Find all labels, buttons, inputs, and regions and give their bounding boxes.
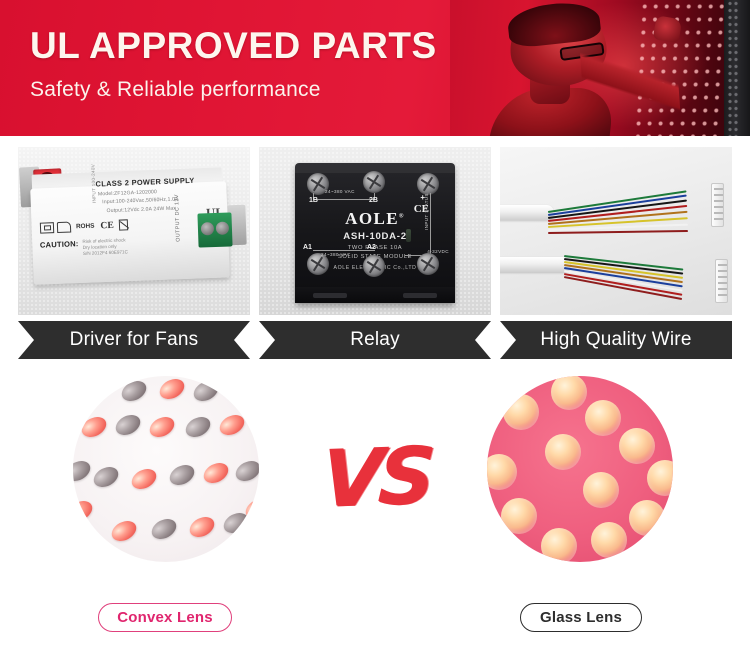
led-dome [551,376,587,410]
led-dome [619,428,655,464]
led-oval [156,376,187,403]
wire-connector-upper [711,183,724,227]
led-dome [545,434,581,470]
led-oval [146,413,177,441]
product-label-relay-text: Relay [350,329,400,351]
product-image-row: CLASS 2 POWER SUPPLY Model:ZF12GA-120200… [0,147,750,315]
header-banner: UL APPROVED PARTS Safety & Reliable perf… [0,0,750,136]
led-oval [186,513,217,541]
relay-bracket-bottom [313,250,375,251]
product-label-wire-text: High Quality Wire [540,329,691,351]
lens-comparison-section: VS [0,370,750,595]
wire-sheath-upper [500,205,554,220]
product-label-driver[interactable]: Driver for Fans [18,321,250,359]
led-oval [148,515,179,543]
led-dome [647,460,673,496]
relay-mount-slot-right [403,293,437,298]
product-label-driver-text: Driver for Fans [70,329,199,351]
relay-housing: 24~380 VAC 1B 2B AOLE® ASH-10DA-2 TWO PH… [295,163,455,303]
led-oval [78,413,109,441]
led-oval [73,533,98,561]
wire-connector-lower [715,259,728,303]
led-dome [583,472,619,508]
product-image-wire [500,147,732,315]
relay-bracket-top [313,199,375,200]
vs-text: VS [320,437,433,519]
led-oval [118,377,149,405]
led-oval [182,413,213,441]
product-label-wire[interactable]: High Quality Wire [500,321,732,359]
product-image-driver: CLASS 2 POWER SUPPLY Model:ZF12GA-120200… [18,147,250,315]
product-label-relay[interactable]: Relay [259,321,491,359]
led-dome [503,394,539,430]
page-subtitle: Safety & Reliable performance [30,78,437,102]
led-dome [585,400,621,436]
product-image-relay: 24~380 VAC 1B 2B AOLE® ASH-10DA-2 TWO PH… [259,147,491,315]
vs-divider: VS [288,432,464,524]
led-oval [90,463,121,491]
registered-mark-icon: ® [399,213,405,219]
relay-screw-a2 [363,255,385,277]
led-dome [541,528,577,562]
led-oval [112,411,143,439]
relay-terminal-a1: A1 [303,244,312,251]
convex-lens-label[interactable]: Convex Lens [98,603,232,632]
relay-base [295,287,455,303]
lens-label-row: Convex Lens Glass Lens [0,603,750,635]
glass-lens-image [487,376,673,562]
led-oval [128,465,159,493]
led-oval [166,461,197,489]
relay-screw-dc [417,173,439,195]
led-dome [629,500,665,536]
wire-strands-lower [564,251,694,293]
header-photo [450,0,750,136]
panel-edge-dark [724,0,750,136]
relay-status-led [406,229,411,242]
header-text-block: UL APPROVED PARTS Safety & Reliable perf… [30,24,437,102]
boy-arm [578,21,682,136]
relay-bracket-right [430,193,431,255]
relay-terminal-2b: 2B [369,197,378,204]
relay-screw-2b [363,171,385,193]
led-dome [501,498,537,534]
boy-figure [486,0,654,136]
page-title: UL APPROVED PARTS [30,24,437,68]
driver-caution-block: CAUTION: Risk of electric shock Dry loca… [40,237,128,258]
led-dome [591,522,627,558]
relay-mount-slot-left [313,293,347,298]
promo-banner-page: UL APPROVED PARTS Safety & Reliable perf… [0,0,750,661]
glass-lens-label-text: Glass Lens [540,609,622,626]
weee-bin-icon [119,219,128,230]
driver-output-terminal [197,212,232,247]
convex-lens-image [73,376,259,562]
relay-model: ASH-10DA-2 [295,231,455,242]
relay-top-rating: 24~380 VAC [325,189,355,194]
relay-brand-name: AOLE® [295,209,455,229]
glass-lens-label[interactable]: Glass Lens [520,603,642,632]
caution-heading: CAUTION: [40,239,79,249]
product-label-row: Driver for Fans Relay High Quality Wire [0,321,750,359]
relay-screw-out [417,253,439,275]
relay-bottom-rating: 24~380 VAC [321,252,351,257]
led-oval [108,517,139,545]
class2-square-icon [40,222,54,234]
rohs-label: ROHS [76,223,95,231]
led-oval [190,377,221,405]
wire-strands-upper [548,189,698,231]
ce-mark-icon: CE [100,220,114,232]
led-oval [216,411,247,439]
wire-sheath-lower [500,257,570,272]
led-dome [487,454,517,490]
led-oval [200,459,231,487]
relay-terminal-1b: 1B [309,197,318,204]
led-oval [73,457,94,485]
led-oval [232,457,259,485]
led-oval [73,497,96,525]
convex-lens-label-text: Convex Lens [117,609,213,626]
indoor-use-icon [57,221,71,233]
relay-input-status-text: INPUT STATUS [424,193,429,230]
